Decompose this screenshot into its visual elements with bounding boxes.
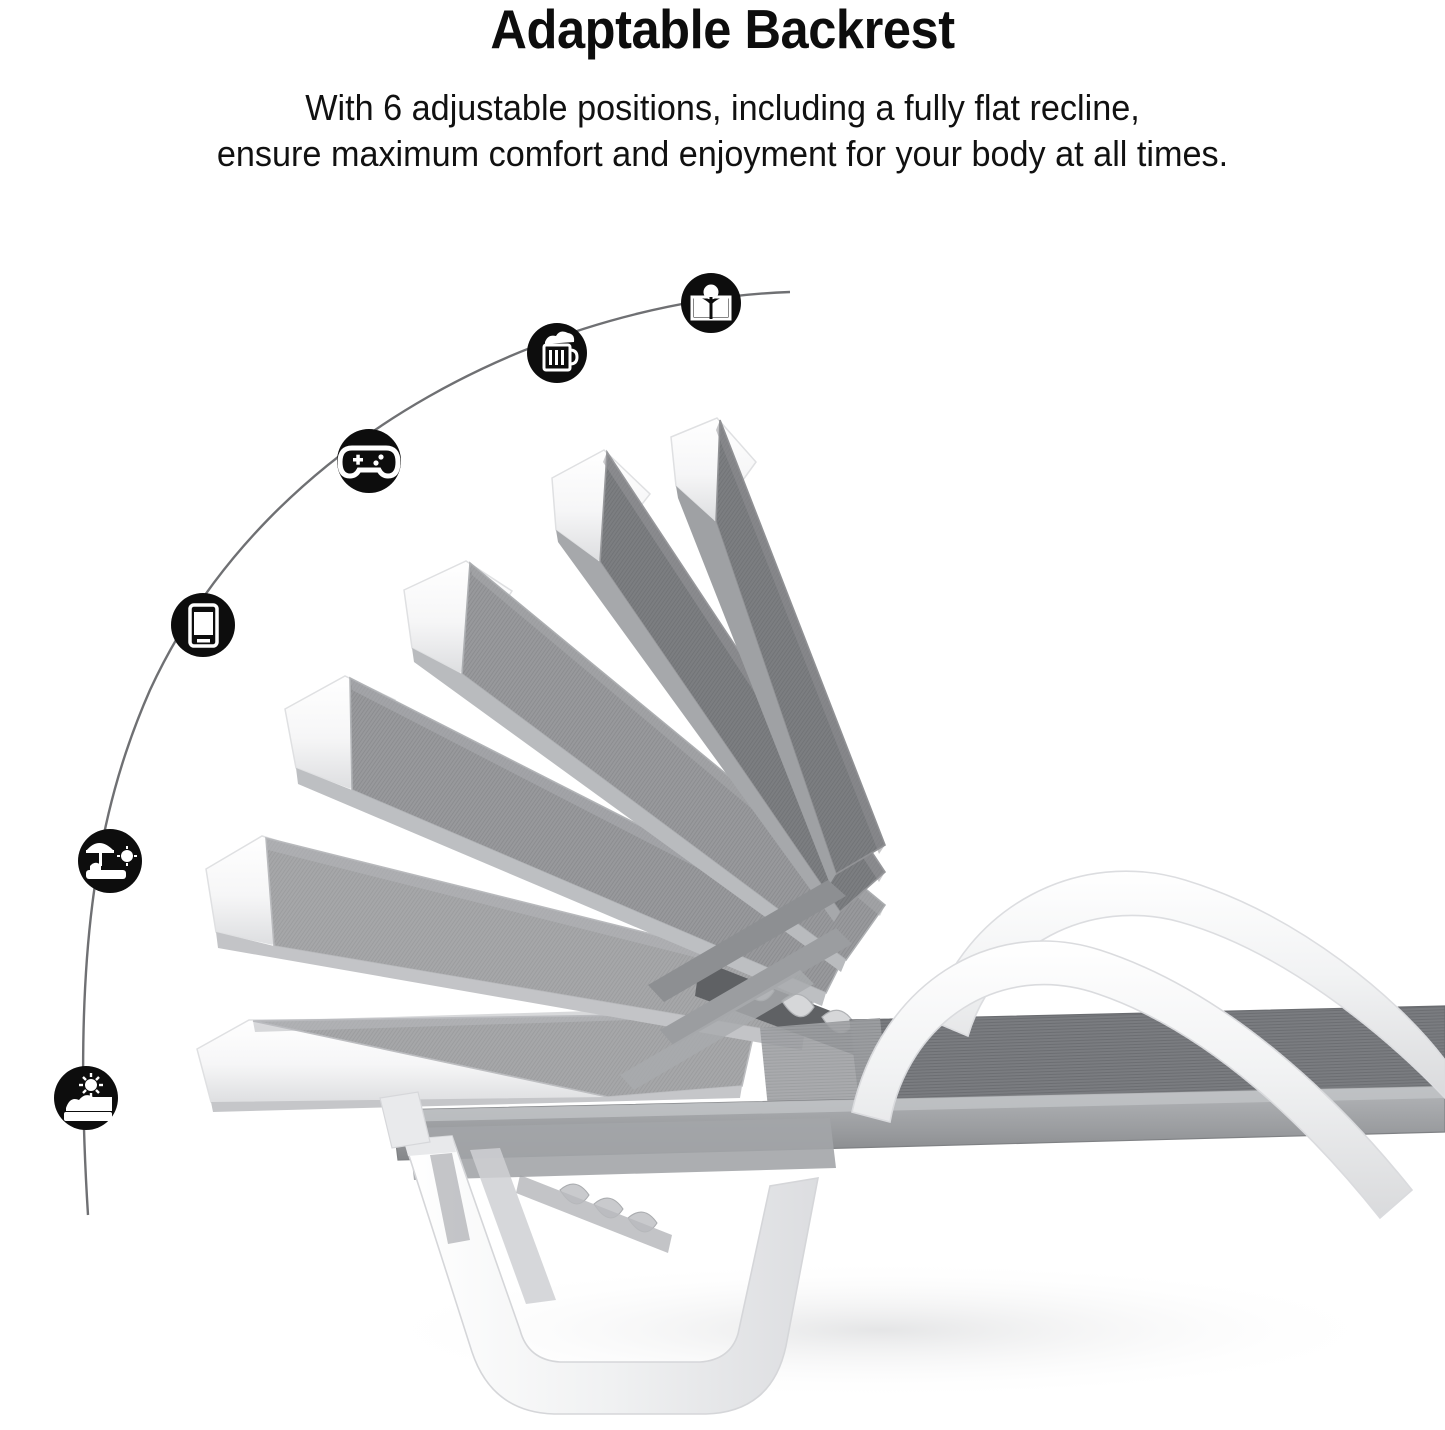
smartphone-icon[interactable] xyxy=(171,593,235,657)
product-illustration xyxy=(0,0,1445,1430)
beach-umbrella-icon[interactable] xyxy=(78,829,142,893)
gamepad-icon[interactable] xyxy=(337,429,401,493)
reading-book-icon[interactable] xyxy=(681,273,741,333)
chaise-lounge-diagram xyxy=(0,0,1445,1430)
beer-mug-icon[interactable] xyxy=(527,323,587,383)
rear-seat-rail xyxy=(408,1118,836,1180)
sunbathing-flat-icon[interactable] xyxy=(54,1066,118,1130)
